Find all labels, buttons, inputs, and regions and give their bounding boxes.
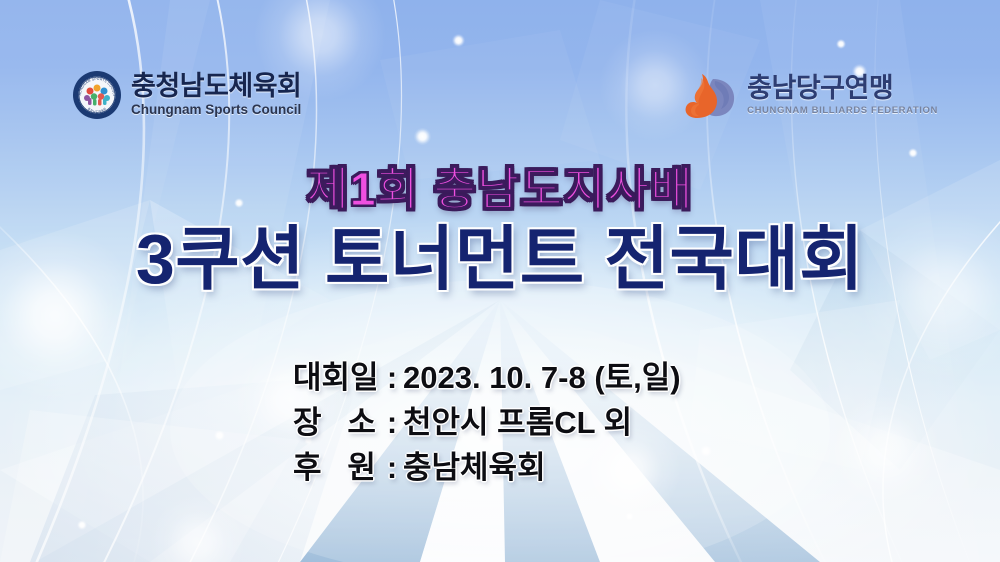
sports-council-name-en: Chungnam Sports Council	[131, 103, 301, 117]
detail-label-venue: 장 소	[293, 407, 381, 438]
billiards-federation-name-en: CHUNGNAM BILLIARDS FEDERATION	[747, 106, 938, 116]
detail-separator-venue: :	[381, 407, 403, 438]
detail-row-sponsor: 후 원 : 충남체육회	[293, 452, 681, 483]
billiards-federation-name-ko: 충남당구연맹	[747, 75, 938, 102]
headline-block: 제1회 충남도지사배 3쿠션 토너먼트 전국대회	[0, 166, 1000, 294]
event-title: 3쿠션 토너먼트 전국대회	[0, 224, 1000, 294]
detail-row-date: 대회일 : 2023. 10. 7-8 (토,일)	[293, 362, 681, 393]
event-details-block: 대회일 : 2023. 10. 7-8 (토,일) 장 소 : 천안시 프롬CL…	[293, 362, 681, 497]
detail-label-sponsor: 후 원	[293, 452, 381, 483]
detail-separator-date: :	[381, 362, 403, 393]
sports-council-name-ko: 충청남도체육회	[131, 73, 301, 100]
detail-value-date: 2023. 10. 7-8 (토,일)	[403, 362, 681, 393]
sports-council-logo-text: 충청남도체육회 Chungnam Sports Council	[131, 73, 301, 117]
billiards-federation-logo-text: 충남당구연맹 CHUNGNAM BILLIARDS FEDERATION	[747, 75, 938, 116]
tournament-poster: CHUNGNAM SPORTS COUNCIL 충청남도체육회 충청남도체육회 …	[0, 0, 1000, 562]
detail-label-date: 대회일	[293, 362, 381, 393]
chungnam-sports-council-emblem-icon: CHUNGNAM SPORTS COUNCIL 충청남도체육회	[72, 70, 122, 120]
detail-row-venue: 장 소 : 천안시 프롬CL 외	[293, 407, 681, 438]
detail-separator-sponsor: :	[381, 452, 403, 483]
detail-value-venue: 천안시 프롬CL 외	[403, 407, 632, 438]
sports-council-logo: CHUNGNAM SPORTS COUNCIL 충청남도체육회 충청남도체육회 …	[72, 70, 301, 120]
event-subtitle: 제1회 충남도지사배	[0, 166, 1000, 212]
detail-value-sponsor: 충남체육회	[403, 452, 546, 483]
billiards-federation-logo: 충남당구연맹 CHUNGNAM BILLIARDS FEDERATION	[682, 70, 938, 120]
chungnam-billiards-federation-flame-icon	[682, 70, 738, 120]
